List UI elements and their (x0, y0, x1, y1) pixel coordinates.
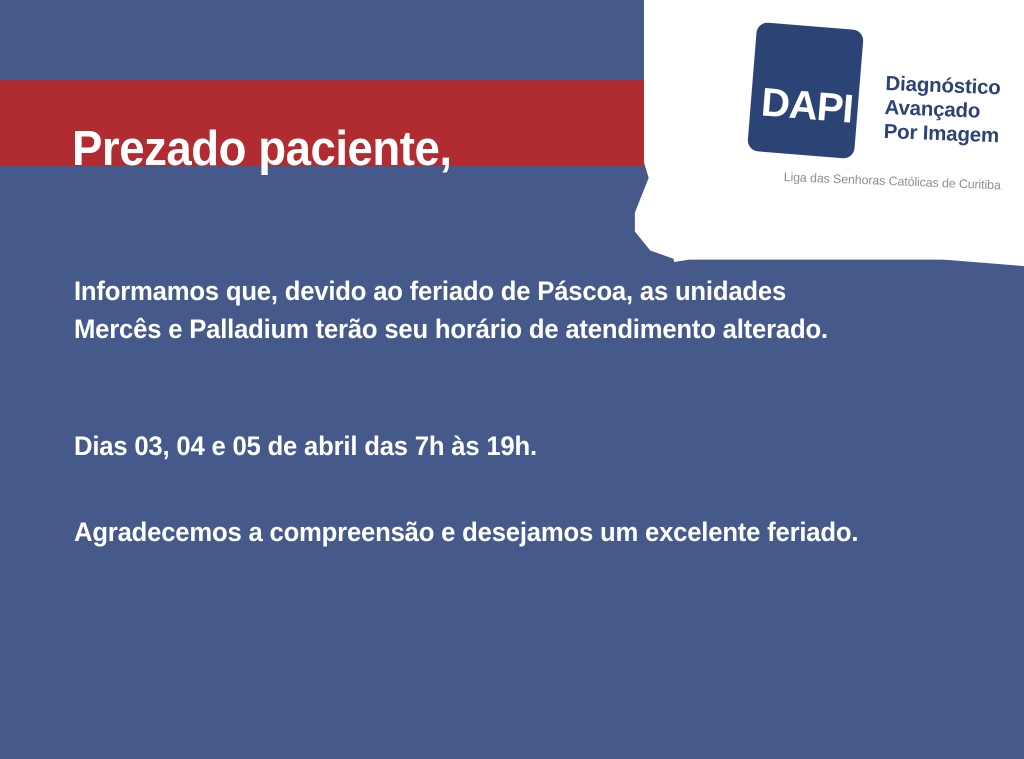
page-title: Prezado paciente, (72, 117, 452, 181)
logo-lockup: DAPI Diagnóstico Avançado Por Imagem Lig… (700, 0, 1024, 230)
paragraph-notice-line-2: Mercês e Palladium terão seu horário de … (74, 310, 929, 348)
paragraph-hours-line-1: Dias 03, 04 e 05 de abril das 7h às 19h. (74, 427, 929, 465)
logo-name-line-3: Por Imagem (883, 120, 999, 148)
paragraph-notice-line-1: Informamos que, devido ao feriado de Pás… (74, 272, 929, 310)
logo-name: Diagnóstico Avançado Por Imagem (883, 72, 1001, 148)
dapi-wordmark: DAPI (756, 82, 859, 130)
body-copy: Informamos que, devido ao feriado de Pás… (74, 272, 974, 551)
paragraph-hours: Dias 03, 04 e 05 de abril das 7h às 19h. (74, 427, 929, 465)
paragraph-closing-line-1: Agradecemos a compreensão e desejamos um… (74, 513, 929, 551)
logo-tagline: Liga das Senhoras Católicas de Curitiba (783, 170, 1001, 192)
announcement-poster: Prezado paciente, Informamos que, devido… (0, 0, 1024, 759)
paragraph-notice: Informamos que, devido ao feriado de Pás… (74, 272, 929, 348)
paragraph-closing: Agradecemos a compreensão e desejamos um… (74, 513, 929, 551)
